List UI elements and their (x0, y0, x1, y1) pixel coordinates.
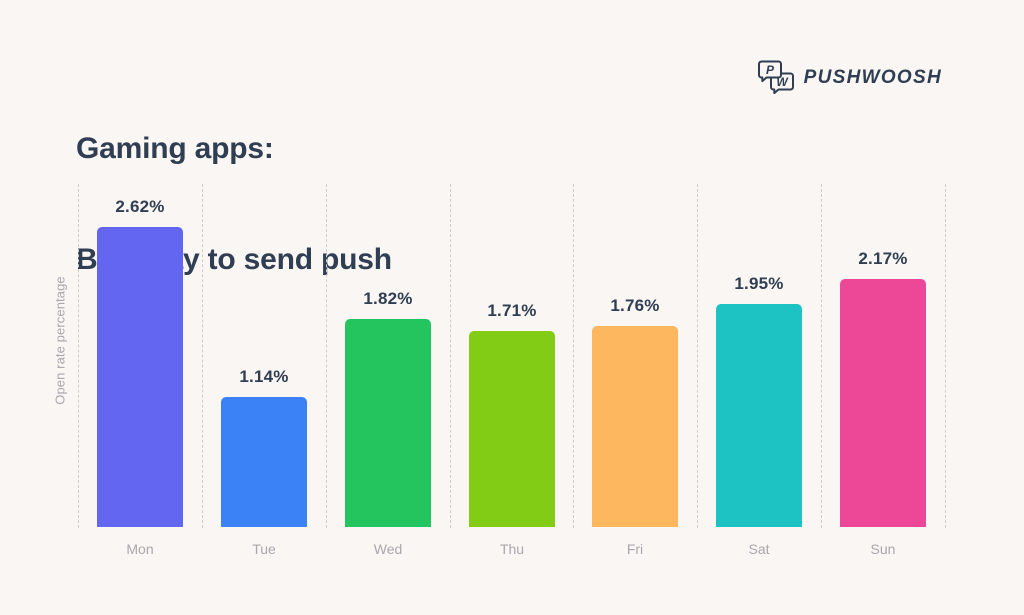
bar-value-label: 1.14% (239, 367, 288, 387)
bar-value-label: 1.76% (610, 296, 659, 316)
bar-value-label: 2.62% (115, 197, 164, 217)
bar-group-mon[interactable]: 2.62%Mon (97, 227, 183, 527)
bar-wed[interactable] (345, 319, 431, 527)
x-axis-tick-wed: Wed (374, 541, 403, 557)
x-axis-tick-thu: Thu (500, 541, 524, 557)
bar-group-fri[interactable]: 1.76%Fri (592, 326, 678, 527)
bar-group-sat[interactable]: 1.95%Sat (716, 304, 802, 527)
bar-group-sun[interactable]: 2.17%Sun (840, 279, 926, 527)
bar-group-thu[interactable]: 1.71%Thu (469, 331, 555, 527)
bar-fri[interactable] (592, 326, 678, 527)
x-axis-tick-tue: Tue (252, 541, 276, 557)
bar-group-wed[interactable]: 1.82%Wed (345, 319, 431, 527)
bar-tue[interactable] (221, 397, 307, 527)
bar-thu[interactable] (469, 331, 555, 527)
bar-mon[interactable] (97, 227, 183, 527)
bar-value-label: 2.17% (858, 249, 907, 269)
x-axis-tick-sat: Sat (748, 541, 769, 557)
x-axis-tick-sun: Sun (871, 541, 896, 557)
bar-value-label: 1.71% (487, 301, 536, 321)
x-axis-tick-mon: Mon (126, 541, 153, 557)
x-axis-tick-fri: Fri (627, 541, 643, 557)
bar-group-tue[interactable]: 1.14%Tue (221, 397, 307, 527)
bar-sun[interactable] (840, 279, 926, 527)
bar-sat[interactable] (716, 304, 802, 527)
bar-value-label: 1.82% (363, 289, 412, 309)
bar-chart: Open rate percentage 2.62%Mon1.14%Tue1.8… (0, 0, 1024, 615)
bar-value-label: 1.95% (734, 274, 783, 294)
chart-bars: 2.62%Mon1.14%Tue1.82%Wed1.71%Thu1.76%Fri… (0, 0, 1024, 615)
